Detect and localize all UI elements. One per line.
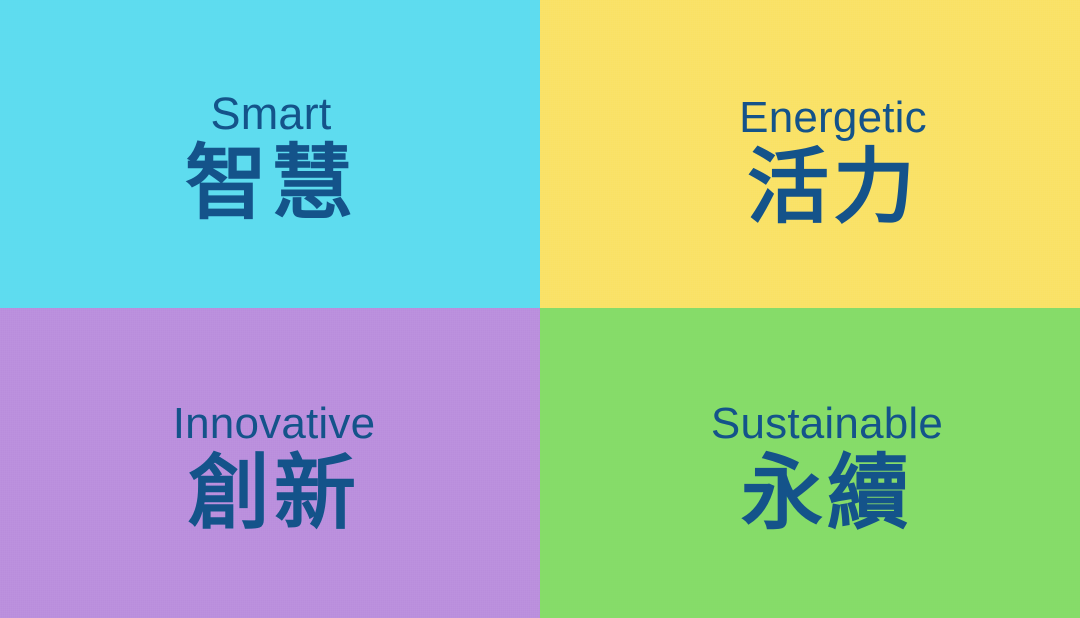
quadrant-innovative-text-stack: Innovative 創新 [173, 402, 376, 536]
quadrant-innovative-label-en: Innovative [173, 402, 376, 446]
brand-values-board: Smart 智慧 Energetic 活力 Innovative 創新 Sust… [0, 0, 1080, 618]
quadrant-sustainable-text-stack: Sustainable 永續 [711, 402, 943, 536]
quadrant-smart-text-stack: Smart 智慧 [185, 91, 357, 226]
quadrant-innovative-label-cjk: 創新 [188, 452, 360, 536]
quadrant-sustainable-label-en: Sustainable [711, 402, 943, 446]
quadrant-smart-label-cjk: 智慧 [185, 142, 357, 226]
quadrant-energetic-text-stack: Energetic 活力 [739, 96, 927, 230]
quadrant-sustainable-label-cjk: 永續 [741, 452, 913, 536]
quadrant-energetic: Energetic 活力 [540, 0, 1080, 308]
quadrant-sustainable: Sustainable 永續 [540, 308, 1080, 618]
quadrant-smart-label-en: Smart [210, 91, 331, 136]
quadrant-innovative: Innovative 創新 [0, 308, 540, 618]
quadrant-smart: Smart 智慧 [0, 0, 540, 308]
quadrant-energetic-label-cjk: 活力 [747, 146, 919, 230]
quadrant-energetic-label-en: Energetic [739, 96, 927, 140]
